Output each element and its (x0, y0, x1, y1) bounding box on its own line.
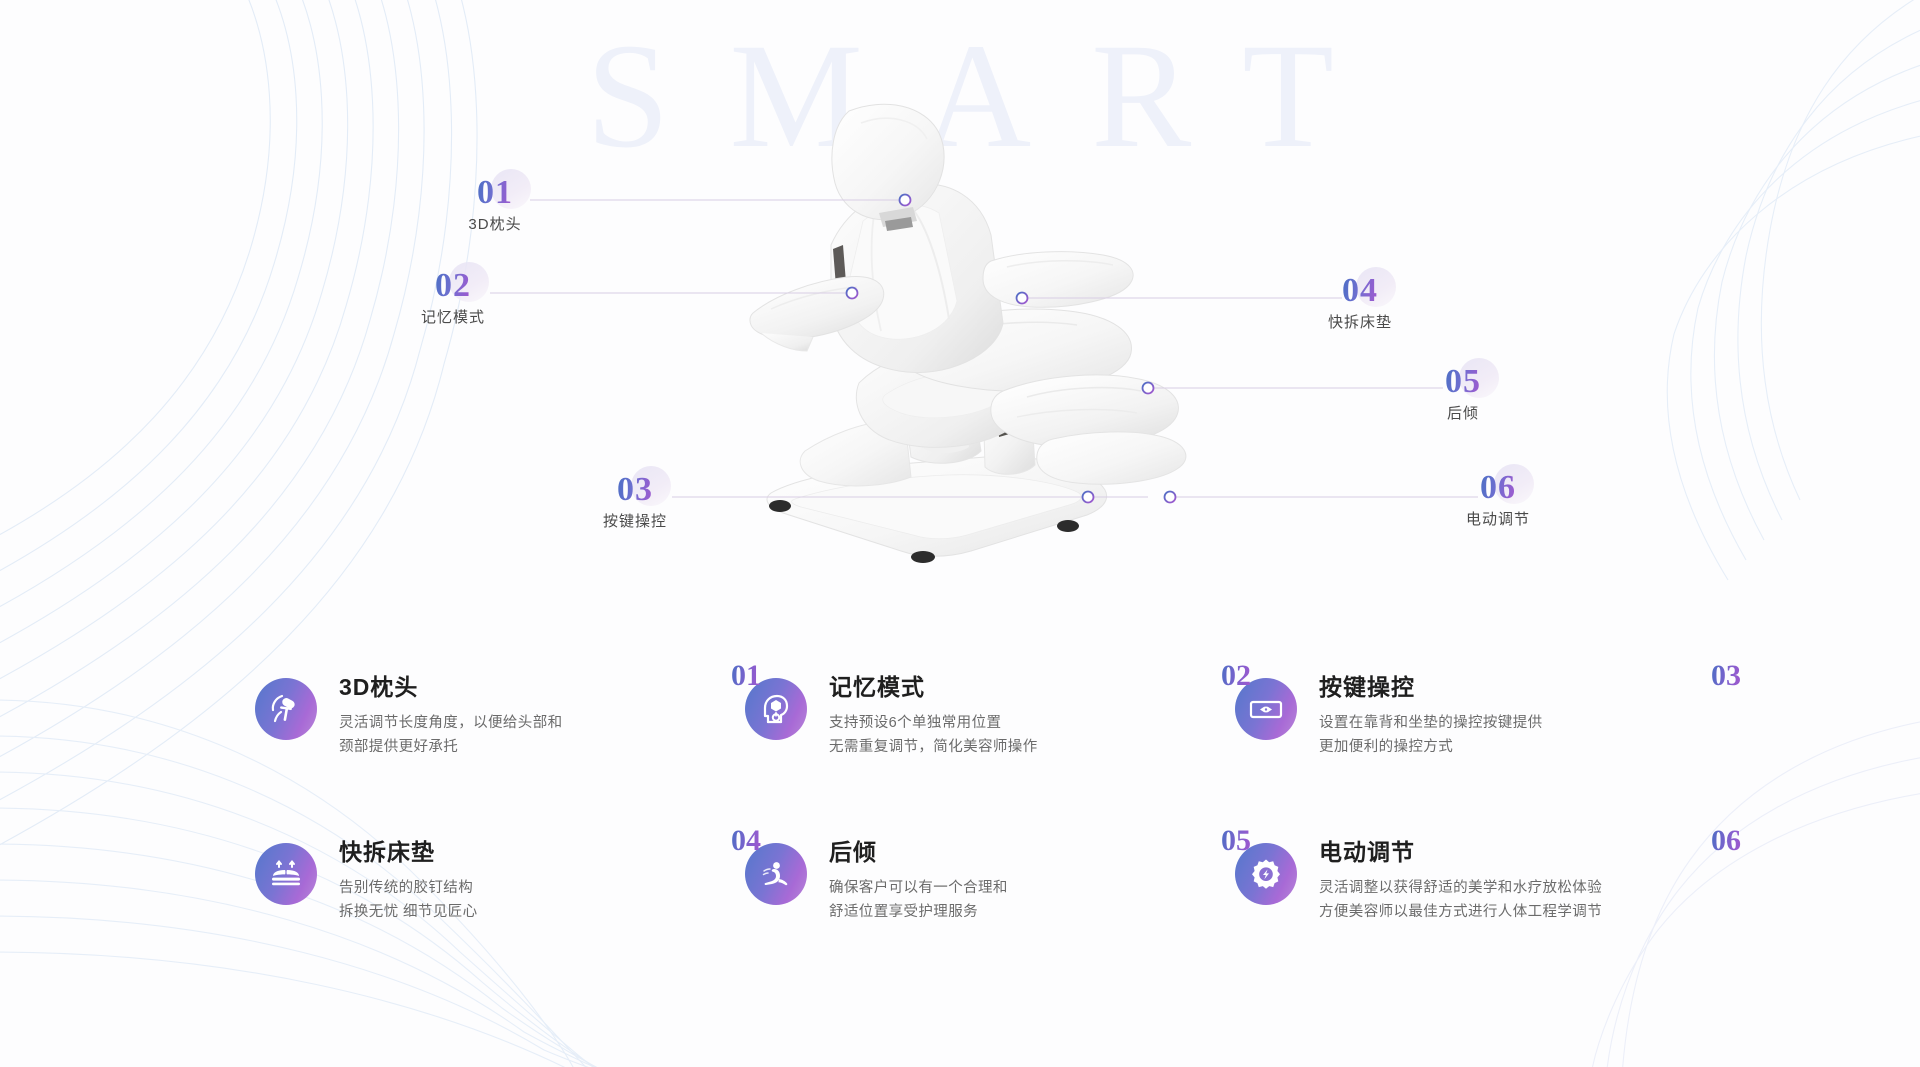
feature-description: 支持预设6个单独常用位置 无需重复调节，简化美容师操作 (829, 712, 1038, 760)
callout-02[interactable]: 02 记忆模式 (398, 268, 508, 327)
feature-desc-line: 方便美容师以最佳方式进行人体工程学调节 (1319, 901, 1602, 925)
feature-card-04[interactable]: 04 快拆床垫 告别传统的胶钉结构 拆换无忧 细节见匠心 (255, 837, 745, 1002)
feature-text: 快拆床垫 告别传统的胶钉结构 拆换无忧 细节见匠心 (339, 837, 478, 924)
pillow-headrest-icon (255, 678, 317, 740)
feature-card-03[interactable]: 03 按键操控 设置在靠背和坐垫的操控按键提供 更加便利的操控方式 (1235, 672, 1725, 837)
callout-number: 02 (435, 267, 471, 304)
feature-title: 3D枕头 (339, 674, 563, 702)
feature-desc-line: 灵活调节长度角度，以便给头部和 (339, 712, 563, 736)
feature-description: 灵活调节长度角度，以便给头部和 颈部提供更好承托 (339, 712, 563, 760)
callout-03[interactable]: 03 按键操控 (580, 472, 690, 531)
callout-06[interactable]: 06 电动调节 (1443, 470, 1553, 529)
feature-text: 记忆模式 支持预设6个单独常用位置 无需重复调节，简化美容师操作 (829, 672, 1038, 759)
feature-desc-line: 无需重复调节，简化美容师操作 (829, 736, 1038, 760)
feature-description: 确保客户可以有一个合理和 舒适位置享受护理服务 (829, 877, 1008, 925)
feature-card-01[interactable]: 01 3D枕头 灵活调节长度角度，以便给头部和 颈部提供更好承托 (255, 672, 745, 837)
callout-number: 05 (1445, 363, 1481, 400)
feature-card-05[interactable]: 05 后倾 确保客户可以有一个合理和 舒适位置享受护理服务 (745, 837, 1235, 1002)
callout-01[interactable]: 01 3D枕头 (440, 175, 550, 234)
product-image-treatment-chair (735, 95, 1205, 575)
callout-label: 快拆床垫 (1305, 311, 1415, 332)
feature-text: 电动调节 灵活调整以获得舒适的美学和水疗放松体验 方便美容师以最佳方式进行人体工… (1319, 837, 1602, 924)
feature-description: 设置在靠背和坐垫的操控按键提供 更加便利的操控方式 (1319, 712, 1543, 760)
callout-number: 04 (1342, 272, 1378, 309)
feature-number-badge: 05 (1221, 824, 1251, 858)
feature-description: 告别传统的胶钉结构 拆换无忧 细节见匠心 (339, 877, 478, 925)
feature-description: 灵活调整以获得舒适的美学和水疗放松体验 方便美容师以最佳方式进行人体工程学调节 (1319, 877, 1602, 925)
feature-title: 记忆模式 (829, 674, 1038, 702)
feature-card-06[interactable]: 06 电动调节 灵活调整以获得舒适的美学和水疗放松体验 方便美容师以最佳方式进行… (1235, 837, 1725, 1002)
feature-desc-line: 灵活调整以获得舒适的美学和水疗放松体验 (1319, 877, 1602, 901)
feature-desc-line: 告别传统的胶钉结构 (339, 877, 478, 901)
feature-number-badge: 06 (1711, 824, 1741, 858)
callout-label: 电动调节 (1443, 508, 1553, 529)
feature-desc-line: 颈部提供更好承托 (339, 736, 563, 760)
mattress-layers-icon (255, 843, 317, 905)
feature-number-badge: 04 (731, 824, 761, 858)
callout-05[interactable]: 05 后倾 (1408, 364, 1518, 423)
feature-grid: 01 3D枕头 灵活调节长度角度，以便给头部和 颈部提供更好承托 (255, 672, 1675, 1002)
callout-number: 03 (617, 471, 653, 508)
infographic-page: SMART (0, 0, 1920, 1067)
feature-number-badge: 01 (731, 659, 761, 693)
callout-number: 01 (477, 174, 513, 211)
feature-number-badge: 03 (1711, 659, 1741, 693)
feature-desc-line: 拆换无忧 细节见匠心 (339, 901, 478, 925)
callout-label: 3D枕头 (440, 213, 550, 234)
feature-desc-line: 确保客户可以有一个合理和 (829, 877, 1008, 901)
feature-number-badge: 02 (1221, 659, 1251, 693)
feature-text: 后倾 确保客户可以有一个合理和 舒适位置享受护理服务 (829, 837, 1008, 924)
feature-title: 后倾 (829, 839, 1008, 867)
feature-text: 3D枕头 灵活调节长度角度，以便给头部和 颈部提供更好承托 (339, 672, 563, 759)
feature-title: 快拆床垫 (339, 839, 478, 867)
feature-desc-line: 更加便利的操控方式 (1319, 736, 1543, 760)
feature-title: 电动调节 (1319, 839, 1602, 867)
callout-label: 后倾 (1408, 402, 1518, 423)
feature-title: 按键操控 (1319, 674, 1543, 702)
feature-desc-line: 支持预设6个单独常用位置 (829, 712, 1038, 736)
callout-number: 06 (1480, 469, 1516, 506)
feature-desc-line: 设置在靠背和坐垫的操控按键提供 (1319, 712, 1543, 736)
feature-text: 按键操控 设置在靠背和坐垫的操控按键提供 更加便利的操控方式 (1319, 672, 1543, 759)
callout-label: 按键操控 (580, 510, 690, 531)
feature-desc-line: 舒适位置享受护理服务 (829, 901, 1008, 925)
callout-04[interactable]: 04 快拆床垫 (1305, 273, 1415, 332)
feature-card-02[interactable]: 02 记忆模式 支持预设6个单独常用位置 无需重复调节，简化美容师操作 (745, 672, 1235, 837)
callout-label: 记忆模式 (398, 306, 508, 327)
